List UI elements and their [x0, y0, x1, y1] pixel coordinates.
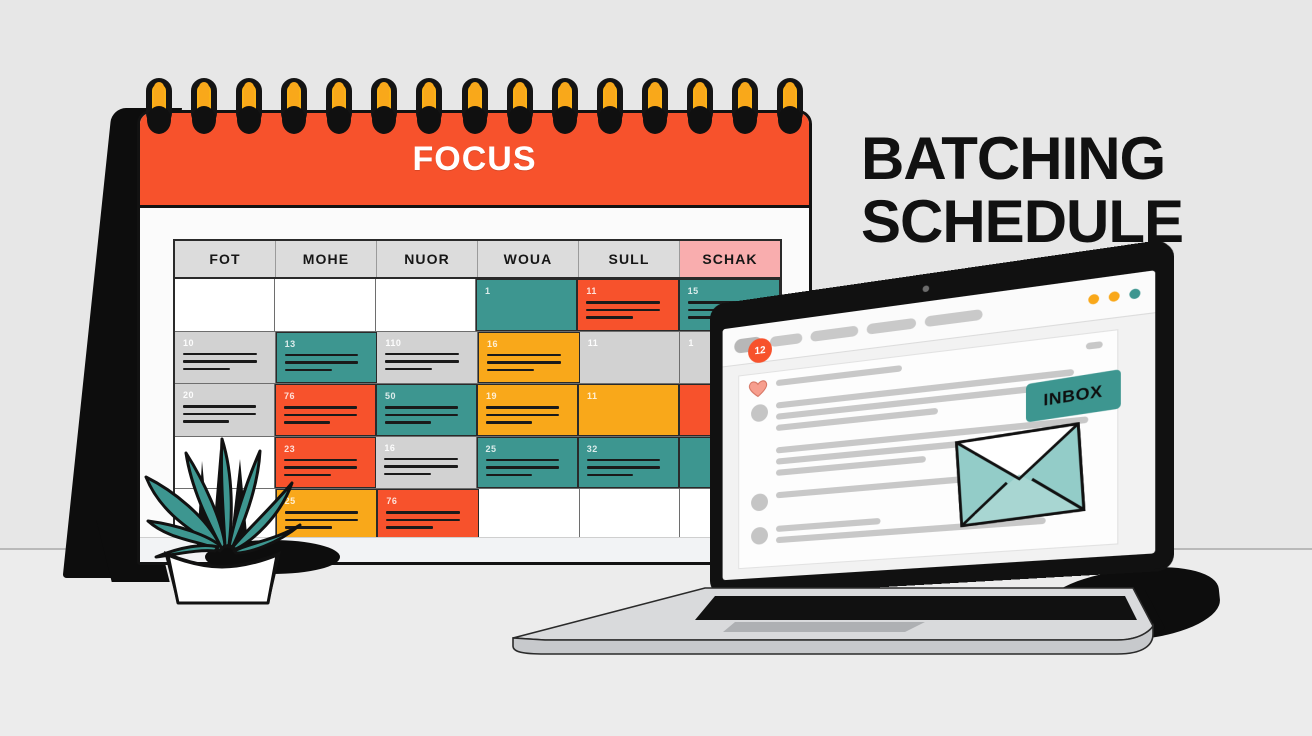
laptop-screen: 12 INBOX	[723, 270, 1156, 580]
webcam-icon	[923, 285, 930, 292]
calendar-day-cell[interactable]	[376, 279, 476, 331]
calendar-column-header-schak: SCHAK	[680, 241, 780, 277]
illustration-canvas: BATCHING SCHEDULE FOCUS FOTMOHENUORWOUAS…	[0, 0, 1312, 736]
event-lines	[284, 406, 367, 424]
calendar-day-cell[interactable]: 50	[376, 384, 477, 436]
day-number: 10	[183, 338, 267, 348]
day-number: 20	[183, 390, 266, 400]
calendar-column-header-mohe: MOHE	[276, 241, 377, 277]
spiral-ring	[687, 78, 713, 144]
event-lines	[183, 353, 267, 371]
spiral-ring	[777, 78, 803, 144]
page-title: BATCHING SCHEDULE	[861, 127, 1281, 253]
calendar-day-cell[interactable]: 110	[377, 332, 478, 384]
status-dot-teal[interactable]	[1129, 288, 1140, 300]
spiral-ring	[416, 78, 442, 144]
spiral-ring	[552, 78, 578, 144]
spiral-ring	[371, 78, 397, 144]
spiral-ring	[146, 78, 172, 144]
calendar-day-cell[interactable]: 76	[377, 489, 479, 541]
heart-icon	[748, 378, 768, 399]
avatar	[751, 527, 768, 546]
spiral-ring	[507, 78, 533, 144]
calendar-day-cell[interactable]: 10	[175, 332, 276, 384]
status-dot-amber[interactable]	[1088, 294, 1099, 305]
page-title-line1: BATCHING	[861, 125, 1165, 192]
spiral-ring	[281, 78, 307, 144]
day-number: 76	[386, 496, 470, 506]
tab-pill[interactable]	[867, 317, 916, 334]
spiral-binding	[137, 78, 812, 150]
day-number: 110	[385, 338, 469, 348]
tab-pill[interactable]	[810, 325, 858, 342]
day-number: 15	[688, 286, 771, 296]
tab-pill[interactable]	[925, 308, 983, 326]
spiral-ring	[191, 78, 217, 144]
avatar	[751, 403, 768, 422]
envelope-icon	[954, 421, 1086, 528]
day-number: 16	[384, 443, 467, 453]
calendar-column-header-fot: FOT	[175, 241, 276, 277]
calendar-column-headers: FOTMOHENUORWOUASULLSCHAK	[175, 241, 780, 279]
day-number: 1	[485, 286, 568, 296]
calendar-column-header-nuor: NUOR	[377, 241, 478, 277]
spiral-ring	[597, 78, 623, 144]
avatar	[751, 493, 768, 512]
calendar-column-header-sull: SULL	[579, 241, 680, 277]
event-lines	[385, 406, 468, 424]
spiral-ring	[462, 78, 488, 144]
event-lines	[386, 511, 470, 529]
laptop: 12 INBOX	[505, 300, 1165, 650]
status-dot-amber[interactable]	[1109, 291, 1120, 303]
tab-pill[interactable]	[770, 332, 802, 346]
spiral-ring	[236, 78, 262, 144]
calendar-day-cell[interactable]: 13	[276, 332, 378, 384]
day-number: 76	[284, 391, 367, 401]
calendar-column-header-woua: WOUA	[478, 241, 579, 277]
day-number: 11	[586, 286, 669, 296]
day-number: 13	[285, 339, 369, 349]
event-lines	[385, 353, 469, 371]
potted-plant-icon	[140, 425, 305, 605]
calendar-day-cell[interactable]	[275, 279, 375, 331]
calendar-day-cell[interactable]	[175, 279, 275, 331]
event-lines	[384, 458, 467, 476]
laptop-base	[505, 582, 1165, 644]
spiral-ring	[732, 78, 758, 144]
calendar-day-cell[interactable]: 16	[376, 437, 476, 489]
spiral-ring	[642, 78, 668, 144]
day-number: 50	[385, 391, 468, 401]
page-title-line2: SCHEDULE	[861, 190, 1281, 253]
spiral-ring	[326, 78, 352, 144]
event-lines	[285, 354, 369, 372]
event-lines	[183, 405, 266, 423]
